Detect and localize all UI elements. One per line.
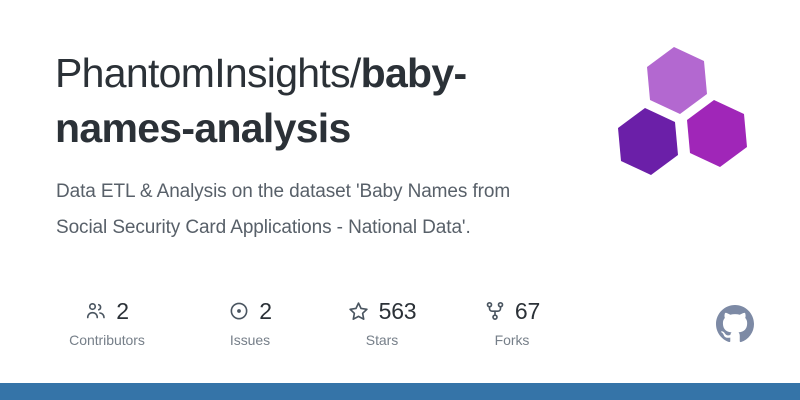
hexagon-top-shape — [647, 47, 707, 114]
hexagon-top — [647, 47, 707, 114]
repository-description: Data ETL & Analysis on the dataset 'Baby… — [56, 174, 556, 246]
stat-issues-value: 2 — [259, 298, 272, 324]
hexagon-bottom-left — [618, 108, 678, 175]
stat-stars-row: 563 — [348, 298, 417, 324]
stat-forks-label: Forks — [495, 331, 530, 349]
github-mark-icon — [716, 305, 754, 343]
issue-opened-icon — [228, 300, 250, 322]
github-repository-social-card: PhantomInsights/baby-names-analysis Data… — [0, 0, 800, 400]
repository-owner[interactable]: PhantomInsights — [55, 50, 350, 96]
stat-forks[interactable]: 67 Forks — [478, 298, 546, 349]
stat-stars[interactable]: 563 Stars — [338, 298, 426, 349]
stat-stars-label: Stars — [366, 331, 398, 349]
hexagon-bottom-left-shape — [618, 108, 678, 175]
repository-title[interactable]: PhantomInsights/baby-names-analysis — [55, 46, 555, 156]
repo-forked-icon — [484, 300, 506, 322]
stat-issues-label: Issues — [230, 331, 270, 349]
repository-stats: 2 Contributors 2 Issues — [52, 298, 546, 349]
stat-stars-value: 563 — [379, 298, 417, 324]
stat-issues[interactable]: 2 Issues — [214, 298, 286, 349]
stat-issues-row: 2 — [228, 298, 272, 324]
star-icon — [348, 300, 370, 322]
hexagon-bottom-right — [687, 100, 747, 167]
hexagon-cluster-logo — [612, 44, 762, 194]
stat-forks-row: 67 — [484, 298, 540, 324]
hexagon-bottom-right-shape — [687, 100, 747, 167]
stat-contributors-row: 2 — [85, 298, 129, 324]
stat-contributors[interactable]: 2 Contributors — [52, 298, 162, 349]
stat-forks-value: 67 — [515, 298, 540, 324]
stat-contributors-label: Contributors — [69, 331, 145, 349]
repository-name-separator: / — [350, 50, 361, 96]
bottom-accent-bar — [0, 383, 800, 400]
people-icon — [85, 300, 107, 322]
stat-contributors-value: 2 — [116, 298, 129, 324]
